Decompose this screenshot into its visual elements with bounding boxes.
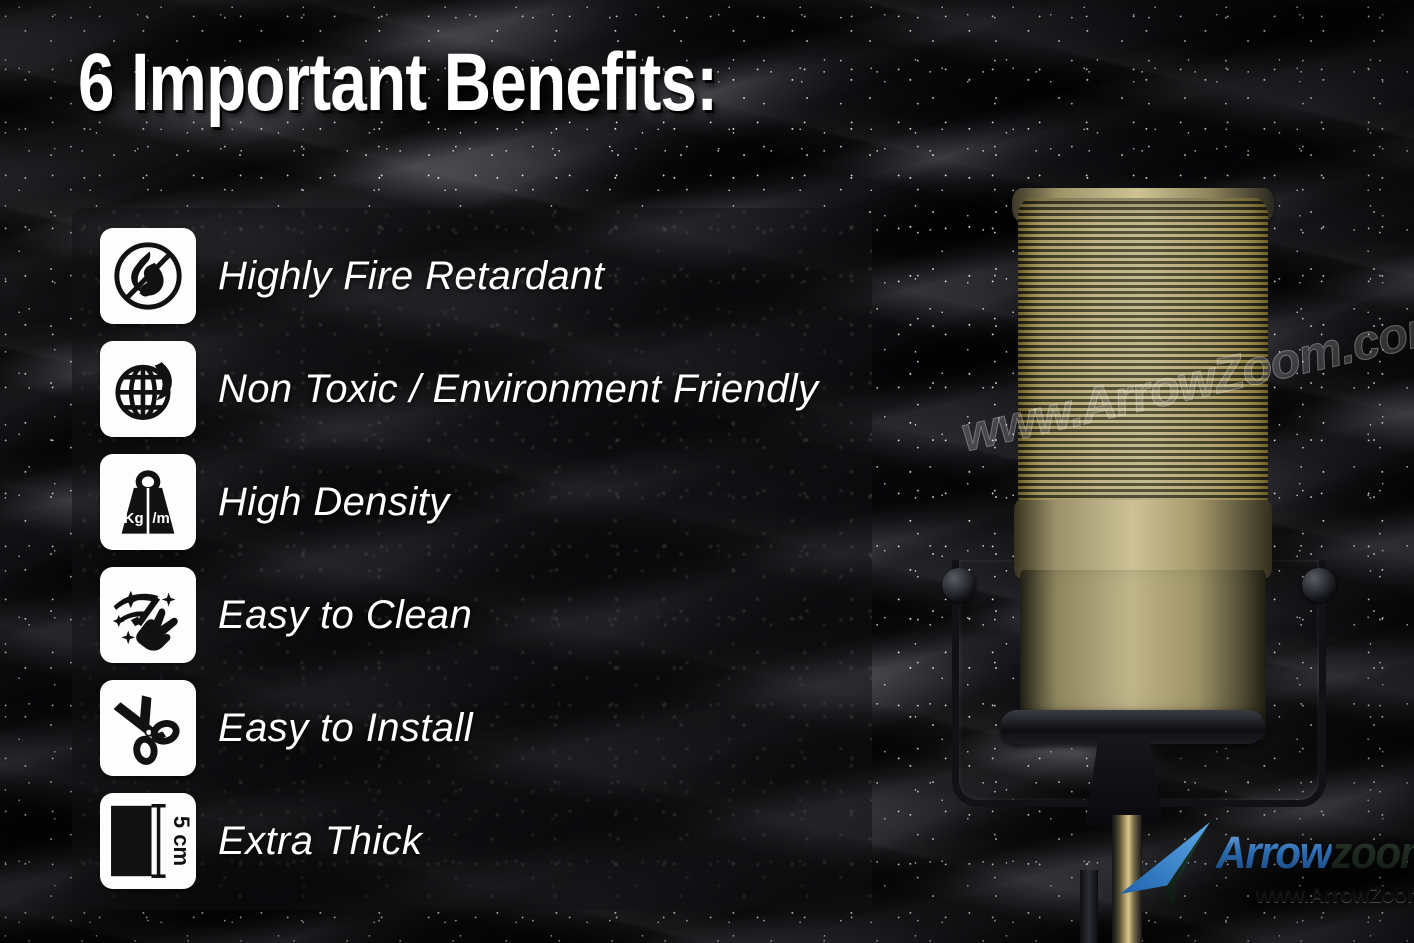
density-unit: /m — [152, 510, 169, 527]
no-fire-icon — [100, 228, 196, 324]
mic-mount-knob-right — [1302, 568, 1336, 602]
logo-wordmark: Arrowzoom — [1216, 830, 1414, 875]
benefit-label: Easy to Clean — [218, 593, 472, 638]
mic-mesh-grille — [1018, 198, 1268, 513]
benefit-label: Non Toxic / Environment Friendly — [218, 367, 818, 412]
brand-logo[interactable]: Arrowzoom www.ArrowZoom.com — [1118, 818, 1406, 924]
mic-stand-pole-rear — [1080, 870, 1098, 943]
infographic-canvas: www.ArrowZoom.com 6 Important Benefits: … — [0, 0, 1414, 943]
benefit-row-non-toxic: Non Toxic / Environment Friendly — [100, 341, 818, 437]
logo-word-arrow: Arrow — [1216, 827, 1331, 878]
thickness-value: 5 cm — [169, 816, 192, 866]
hand-wipe-sparkle-icon — [100, 567, 196, 663]
benefit-label: Easy to Install — [218, 706, 473, 751]
mic-mount-knob-left — [942, 568, 976, 602]
benefit-row-fire-retardant: Highly Fire Retardant — [100, 228, 604, 324]
arrow-logo-mark — [1118, 820, 1228, 912]
thickness-ruler-icon: 5 cm — [100, 793, 196, 889]
benefit-label: Highly Fire Retardant — [218, 254, 604, 299]
benefit-label: High Density — [218, 480, 450, 525]
mic-mid-band — [1014, 500, 1272, 578]
mic-body — [1018, 198, 1268, 718]
logo-url: www.ArrowZoom.com — [1256, 884, 1414, 908]
benefit-row-extra-thick: 5 cm Extra Thick — [100, 793, 422, 889]
weight-density-icon: 25Kg /m 3 — [100, 454, 196, 550]
benefits-list: Highly Fire Retardant Non Toxic / E — [72, 208, 892, 910]
density-unit-exponent: 3 — [171, 507, 177, 519]
globe-leaf-icon — [100, 341, 196, 437]
logo-word-zoom: zoom — [1331, 827, 1414, 878]
benefit-row-easy-to-clean: Easy to Clean — [100, 567, 472, 663]
scissors-icon — [100, 680, 196, 776]
density-value-left: 25Kg — [107, 510, 144, 527]
benefit-row-easy-to-install: Easy to Install — [100, 680, 473, 776]
benefit-row-high-density: 25Kg /m 3 High Density — [100, 454, 450, 550]
page-title: 6 Important Benefits: — [78, 42, 717, 124]
benefit-label: Extra Thick — [218, 819, 422, 864]
